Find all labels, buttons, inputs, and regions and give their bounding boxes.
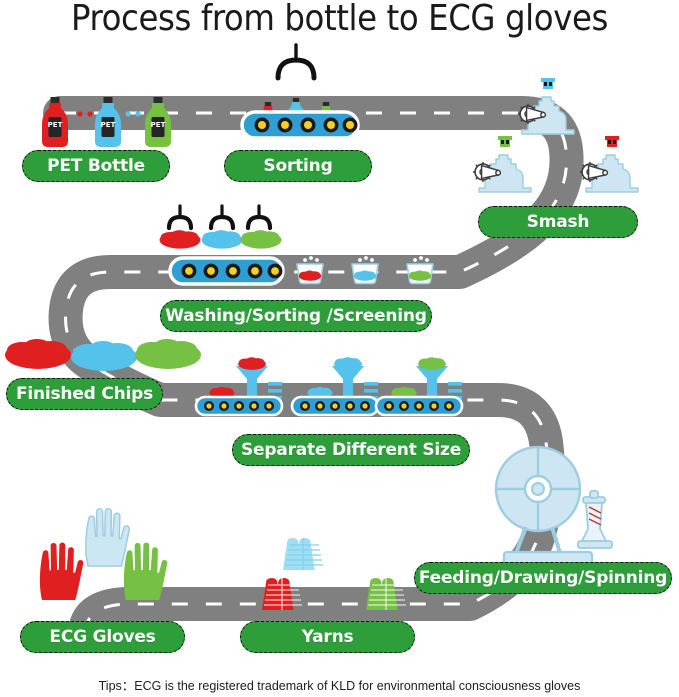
step-badge-pet-bottle[interactable]: PET Bottle [22, 150, 170, 182]
step-badge-yarns[interactable]: Yarns [240, 621, 415, 653]
chip-pile-blue-icon [71, 341, 137, 371]
glove-blue-icon [86, 509, 129, 566]
step-badge-sorting[interactable]: Sorting [224, 150, 372, 182]
stage-spinning-icons [484, 447, 612, 575]
gripper-claw-icon [278, 60, 314, 78]
step-badge-finished[interactable]: Finished Chips [6, 378, 163, 410]
roller-conveyor-icon [170, 258, 283, 284]
step-badge-ecg-gloves[interactable]: ECG Gloves [20, 621, 185, 653]
step-badge-smash[interactable]: Smash [478, 206, 638, 238]
chip-pile-green-icon [135, 339, 201, 369]
flake-pile-red-icon [160, 230, 201, 249]
spindle-tower-icon [578, 491, 612, 548]
shower-head-icon [169, 206, 191, 228]
footer-note: Tips：ECG is the registered trademark of … [0, 675, 679, 694]
stage-ecg-gloves-icons [40, 509, 167, 600]
crusher-machine-green-cap-icon [473, 136, 531, 192]
dot-red [77, 111, 82, 116]
flake-pile-blue-icon [202, 230, 243, 249]
chip-pile-red-icon [5, 339, 71, 369]
diagram-canvas: Process from bottle to ECG gloves PET PE… [0, 0, 679, 697]
dot-blue [125, 111, 130, 116]
shower-head-icon [248, 206, 270, 228]
step-badge-separate[interactable]: Separate Different Size [232, 434, 470, 466]
dot-red [87, 111, 92, 116]
yarn-cone-blue-icon [283, 538, 323, 570]
shower-head-icon [211, 206, 233, 228]
flake-pile-green-icon [241, 230, 282, 249]
stage-finished-chips-icons [5, 339, 201, 371]
step-badge-feeding[interactable]: Feeding/Drawing/Spinning [414, 562, 672, 594]
roller-conveyor-icon [242, 112, 358, 138]
crusher-machine-red-cap-icon [580, 136, 638, 192]
dot-blue [135, 111, 140, 116]
step-badge-washing[interactable]: Washing/Sorting /Screening [160, 300, 432, 332]
stage-sorting-icons [242, 45, 358, 138]
glove-green-icon [124, 543, 167, 600]
glove-red-icon [40, 543, 83, 600]
